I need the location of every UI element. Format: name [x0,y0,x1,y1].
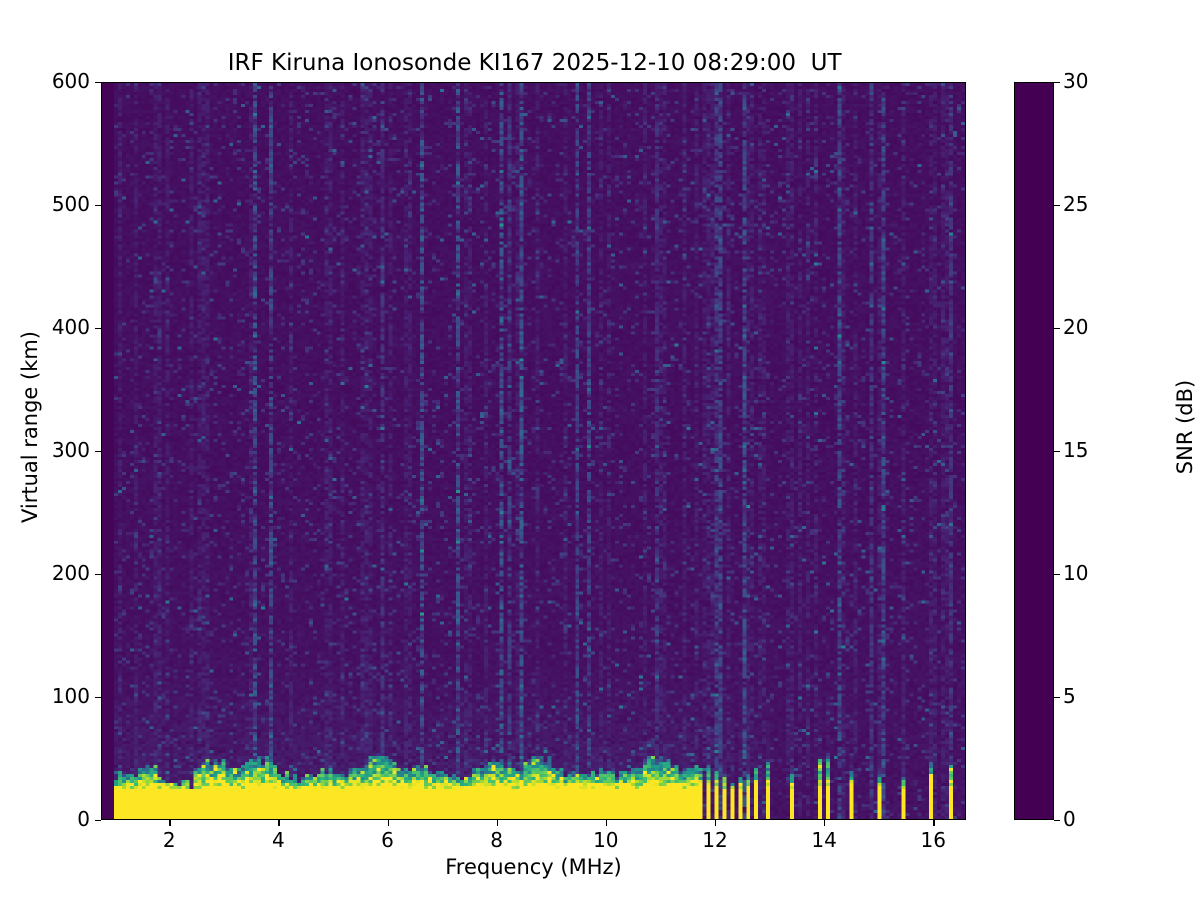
colorbar-tick-label: 20 [1063,315,1088,339]
plot-area [101,82,966,820]
y-tick-mark [95,697,101,698]
x-tick-label: 6 [348,828,428,852]
colorbar-tick-label: 0 [1063,807,1076,831]
colorbar-tick-mark [1054,205,1060,206]
y-tick-label: 100 [0,684,90,708]
x-tick-mark [497,820,498,826]
x-axis-label: Frequency (MHz) [101,855,966,879]
y-axis-label: Virtual range (km) [18,257,42,597]
y-tick-label: 500 [0,192,90,216]
ionogram-figure: IRF Kiruna Ionosonde KI167 2025-12-10 08… [0,0,1200,900]
y-tick-mark [95,451,101,452]
colorbar-tick-mark [1054,328,1060,329]
title-line-1: IRF Kiruna Ionosonde KI167 2025-12-10 08… [228,50,842,76]
colorbar-tick-mark [1054,820,1060,821]
colorbar-label: SNR (dB) [1173,257,1197,597]
x-tick-label: 16 [893,828,973,852]
colorbar-tick-label: 5 [1063,684,1076,708]
colorbar-gradient [1015,83,1053,819]
y-tick-mark [95,205,101,206]
colorbar-tick-mark [1054,82,1060,83]
x-tick-mark [169,820,170,826]
heatmap-canvas [102,83,965,819]
y-tick-label: 0 [0,807,90,831]
x-tick-label: 2 [129,828,209,852]
colorbar-tick-mark [1054,697,1060,698]
x-tick-mark [824,820,825,826]
y-tick-label: 300 [0,438,90,462]
y-tick-mark [95,328,101,329]
colorbar-tick-label: 30 [1063,69,1088,93]
x-tick-mark [933,820,934,826]
x-tick-label: 12 [675,828,755,852]
colorbar [1014,82,1054,820]
x-tick-mark [388,820,389,826]
colorbar-tick-label: 15 [1063,438,1088,462]
x-tick-label: 10 [566,828,646,852]
x-tick-mark [278,820,279,826]
x-tick-label: 8 [457,828,537,852]
colorbar-tick-label: 10 [1063,561,1088,585]
y-tick-mark [95,82,101,83]
ionogram-heatmap [102,83,965,819]
y-tick-mark [95,820,101,821]
x-tick-mark [715,820,716,826]
y-tick-label: 400 [0,315,90,339]
y-tick-mark [95,574,101,575]
x-tick-mark [606,820,607,826]
y-tick-label: 600 [0,69,90,93]
y-tick-label: 200 [0,561,90,585]
x-tick-label: 14 [784,828,864,852]
colorbar-tick-label: 25 [1063,192,1088,216]
x-tick-label: 4 [238,828,318,852]
colorbar-tick-mark [1054,574,1060,575]
colorbar-tick-mark [1054,451,1060,452]
